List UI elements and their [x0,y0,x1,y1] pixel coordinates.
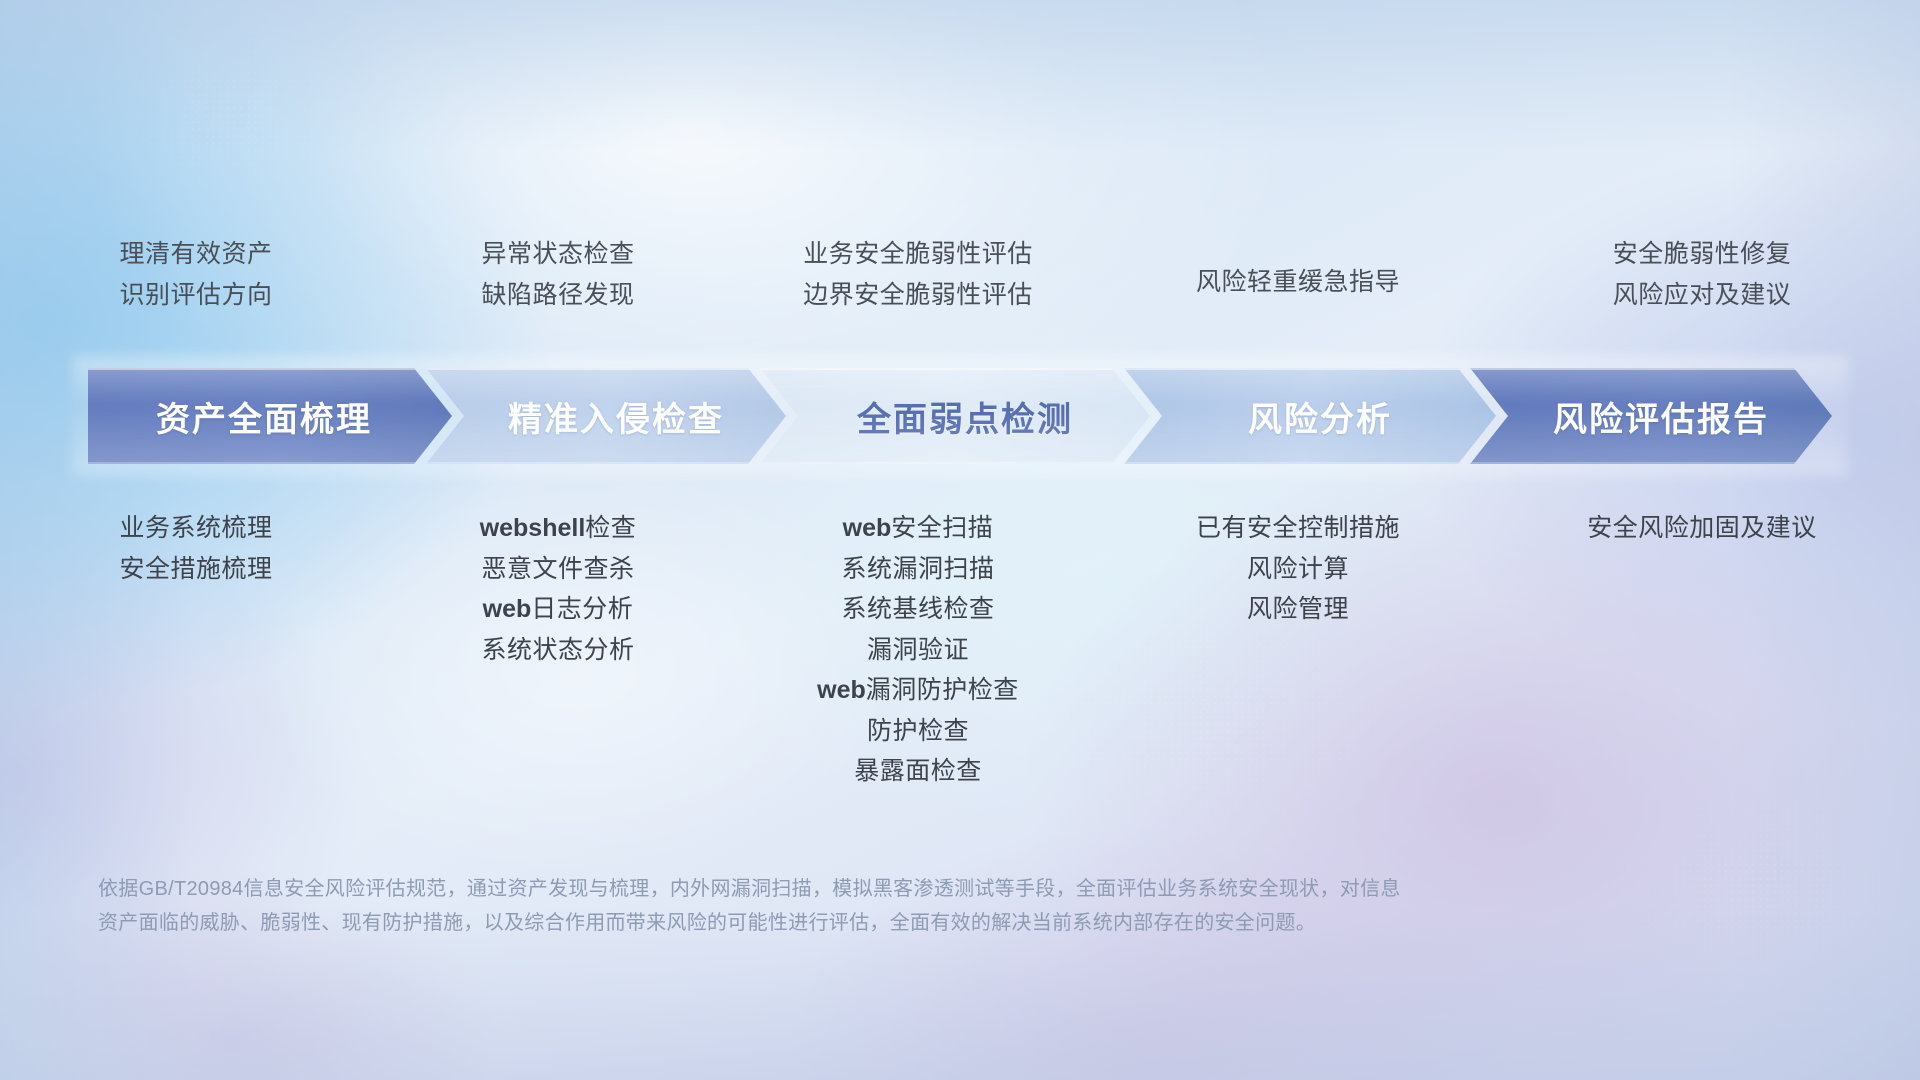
top-item: 理清有效资产 [0,234,392,275]
bottom-item: web漏洞防护检查 [724,670,1112,711]
chevron-label: 风险评估报告 [1553,392,1769,441]
top-item: 识别评估方向 [0,275,392,316]
bottom-items-intrusion-check: webshell检查 恶意文件查杀 web日志分析 系统状态分析 [392,508,724,670]
chevron-label: 风险分析 [1248,392,1392,441]
bottom-item: 业务系统梳理 [0,508,392,549]
bottom-items-weakness-detection: web安全扫描 系统漏洞扫描 系统基线检查 漏洞验证 web漏洞防护检查 防护检… [724,508,1112,792]
footer-line-1: 依据GB/T20984信息安全风险评估规范，通过资产发现与梳理，内外网漏洞扫描，… [98,872,1738,906]
bottom-item: 安全措施梳理 [0,549,392,590]
bottom-item: 风险计算 [1112,549,1484,590]
top-item: 边界安全脆弱性评估 [724,275,1112,316]
top-items-risk-analysis: 风险轻重缓急指导 [1112,228,1484,303]
bottom-item: webshell检查 [392,508,724,549]
top-item: 安全脆弱性修复 [1484,234,1920,275]
top-item: 异常状态检查 [392,234,724,275]
bottom-item: 系统状态分析 [392,630,724,671]
slide-canvas: 理清有效资产 识别评估方向 异常状态检查 缺陷路径发现 业务安全脆弱性评估 边界… [0,0,1920,1080]
bottom-item: web安全扫描 [724,508,1112,549]
chevron-label: 精准入侵检查 [508,392,724,441]
chevron-risk-report[interactable]: 风险评估报告 [1470,368,1832,464]
bottom-items-risk-analysis: 已有安全控制措施 风险计算 风险管理 [1112,508,1484,630]
top-items-intrusion-check: 异常状态检查 缺陷路径发现 [392,228,724,315]
top-item: 缺陷路径发现 [392,275,724,316]
bottom-item: 防护检查 [724,711,1112,752]
bottom-item: 系统漏洞扫描 [724,549,1112,590]
bottom-item: 暴露面检查 [724,751,1112,792]
chevron-asset-inventory[interactable]: 资产全面梳理 [88,368,452,464]
bottom-item: 系统基线检查 [724,589,1112,630]
top-item: 风险应对及建议 [1484,275,1920,316]
footer-description: 依据GB/T20984信息安全风险评估规范，通过资产发现与梳理，内外网漏洞扫描，… [98,872,1738,940]
bottom-item: web日志分析 [392,589,724,630]
chevron-intrusion-check[interactable]: 精准入侵检查 [426,368,786,464]
top-item: 风险轻重缓急指导 [1112,262,1484,303]
chevron-label: 全面弱点检测 [857,392,1073,441]
top-items-asset-inventory: 理清有效资产 识别评估方向 [0,228,392,315]
bottom-item: 安全风险加固及建议 [1484,508,1920,549]
top-items-weakness-detection: 业务安全脆弱性评估 边界安全脆弱性评估 [724,228,1112,315]
bottom-item: 漏洞验证 [724,630,1112,671]
chevron-weakness-detection[interactable]: 全面弱点检测 [760,368,1150,464]
top-item: 业务安全脆弱性评估 [724,234,1112,275]
bottom-item: 已有安全控制措施 [1112,508,1484,549]
bottom-item: 恶意文件查杀 [392,549,724,590]
process-chevron-band: 资产全面梳理 精准入侵检查 全面弱点检测 风险分析 风险评估报告 [88,368,1832,464]
bottom-lists-row: 业务系统梳理 安全措施梳理 webshell检查 恶意文件查杀 web日志分析 … [0,508,1920,792]
bottom-items-asset-inventory: 业务系统梳理 安全措施梳理 [0,508,392,589]
bottom-item: 风险管理 [1112,589,1484,630]
bottom-items-risk-report: 安全风险加固及建议 [1484,508,1920,549]
chevron-label: 资产全面梳理 [156,392,372,441]
chevron-risk-analysis[interactable]: 风险分析 [1124,368,1496,464]
footer-line-2: 资产面临的威胁、脆弱性、现有防护措施，以及综合作用而带来风险的可能性进行评估，全… [98,906,1738,940]
top-labels-row: 理清有效资产 识别评估方向 异常状态检查 缺陷路径发现 业务安全脆弱性评估 边界… [0,228,1920,315]
top-items-risk-report: 安全脆弱性修复 风险应对及建议 [1484,228,1920,315]
